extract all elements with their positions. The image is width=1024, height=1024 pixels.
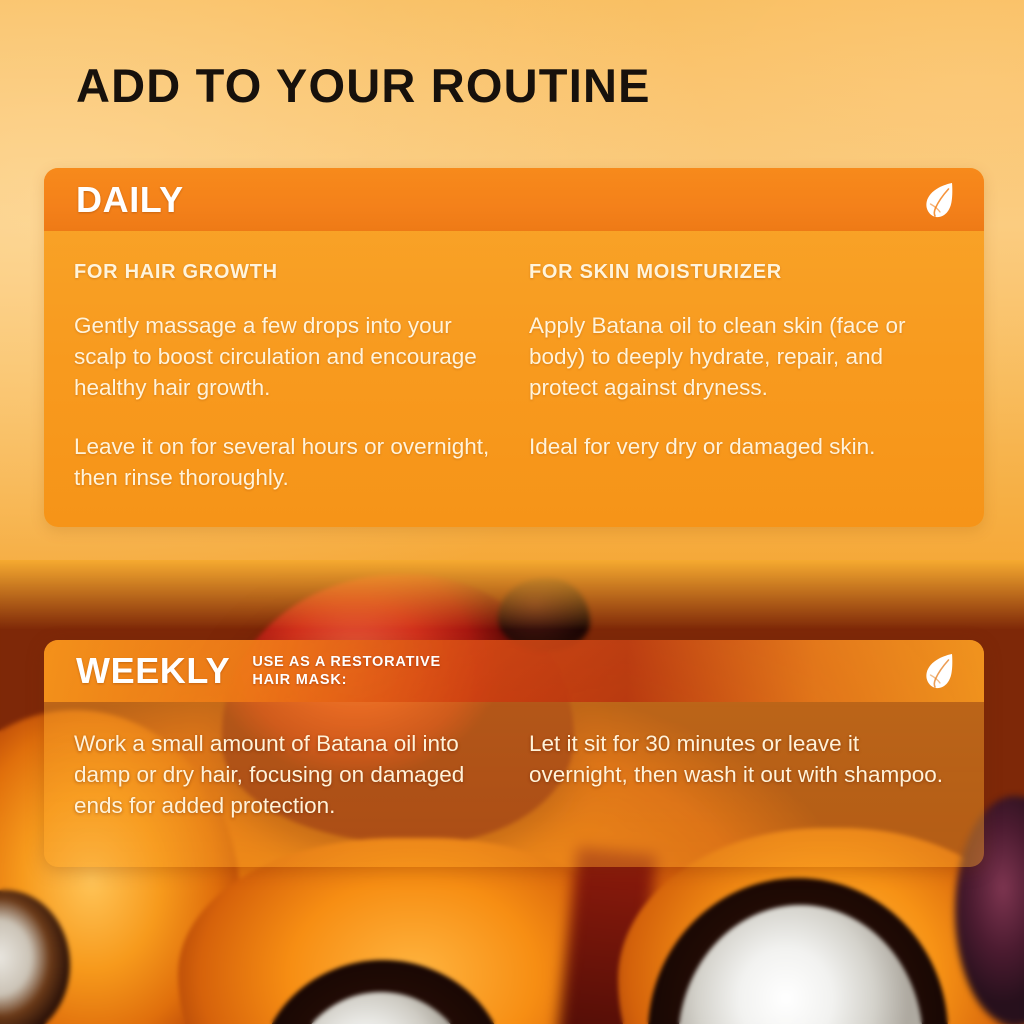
weekly-column-left: Work a small amount of Batana oil into d… xyxy=(74,728,499,821)
daily-card: DAILY FOR HAIR GROWTH Gently massage a f… xyxy=(44,168,984,527)
daily-hair-growth-paragraph-1: Gently massage a few drops into your sca… xyxy=(74,310,499,403)
daily-column-skin-moisturizer: FOR SKIN MOISTURIZER Apply Batana oil to… xyxy=(529,261,954,493)
daily-card-header: DAILY xyxy=(44,168,984,231)
weekly-header-text-group: WEEKLY USE AS A RESTORATIVEHAIR MASK: xyxy=(44,650,441,692)
leaf-icon xyxy=(922,651,958,691)
weekly-left-paragraph-1: Work a small amount of Batana oil into d… xyxy=(74,728,499,821)
daily-column-hair-growth: FOR HAIR GROWTH Gently massage a few dro… xyxy=(74,261,499,493)
daily-skin-moisturizer-paragraph-2: Ideal for very dry or damaged skin. xyxy=(529,431,954,462)
daily-skin-moisturizer-heading: FOR SKIN MOISTURIZER xyxy=(529,261,954,284)
weekly-card-header: WEEKLY USE AS A RESTORATIVEHAIR MASK: xyxy=(44,640,984,702)
daily-card-body: FOR HAIR GROWTH Gently massage a few dro… xyxy=(44,231,984,527)
leaf-icon xyxy=(922,180,958,220)
weekly-card-body: Work a small amount of Batana oil into d… xyxy=(44,702,984,867)
weekly-card: WEEKLY USE AS A RESTORATIVEHAIR MASK: Wo… xyxy=(44,640,984,867)
weekly-card-subtitle: USE AS A RESTORATIVEHAIR MASK: xyxy=(252,653,441,689)
weekly-card-title: WEEKLY xyxy=(76,650,230,692)
daily-skin-moisturizer-paragraph-1: Apply Batana oil to clean skin (face or … xyxy=(529,310,954,403)
content-layer: ADD TO YOUR ROUTINE DAILY FOR HAIR GROWT… xyxy=(0,0,1024,1024)
daily-hair-growth-heading: FOR HAIR GROWTH xyxy=(74,261,499,284)
weekly-right-paragraph-1: Let it sit for 30 minutes or leave it ov… xyxy=(529,728,954,790)
weekly-column-right: Let it sit for 30 minutes or leave it ov… xyxy=(529,728,954,821)
page-title: ADD TO YOUR ROUTINE xyxy=(76,58,651,113)
daily-hair-growth-paragraph-2: Leave it on for several hours or overnig… xyxy=(74,431,499,493)
daily-card-title: DAILY xyxy=(76,179,184,221)
